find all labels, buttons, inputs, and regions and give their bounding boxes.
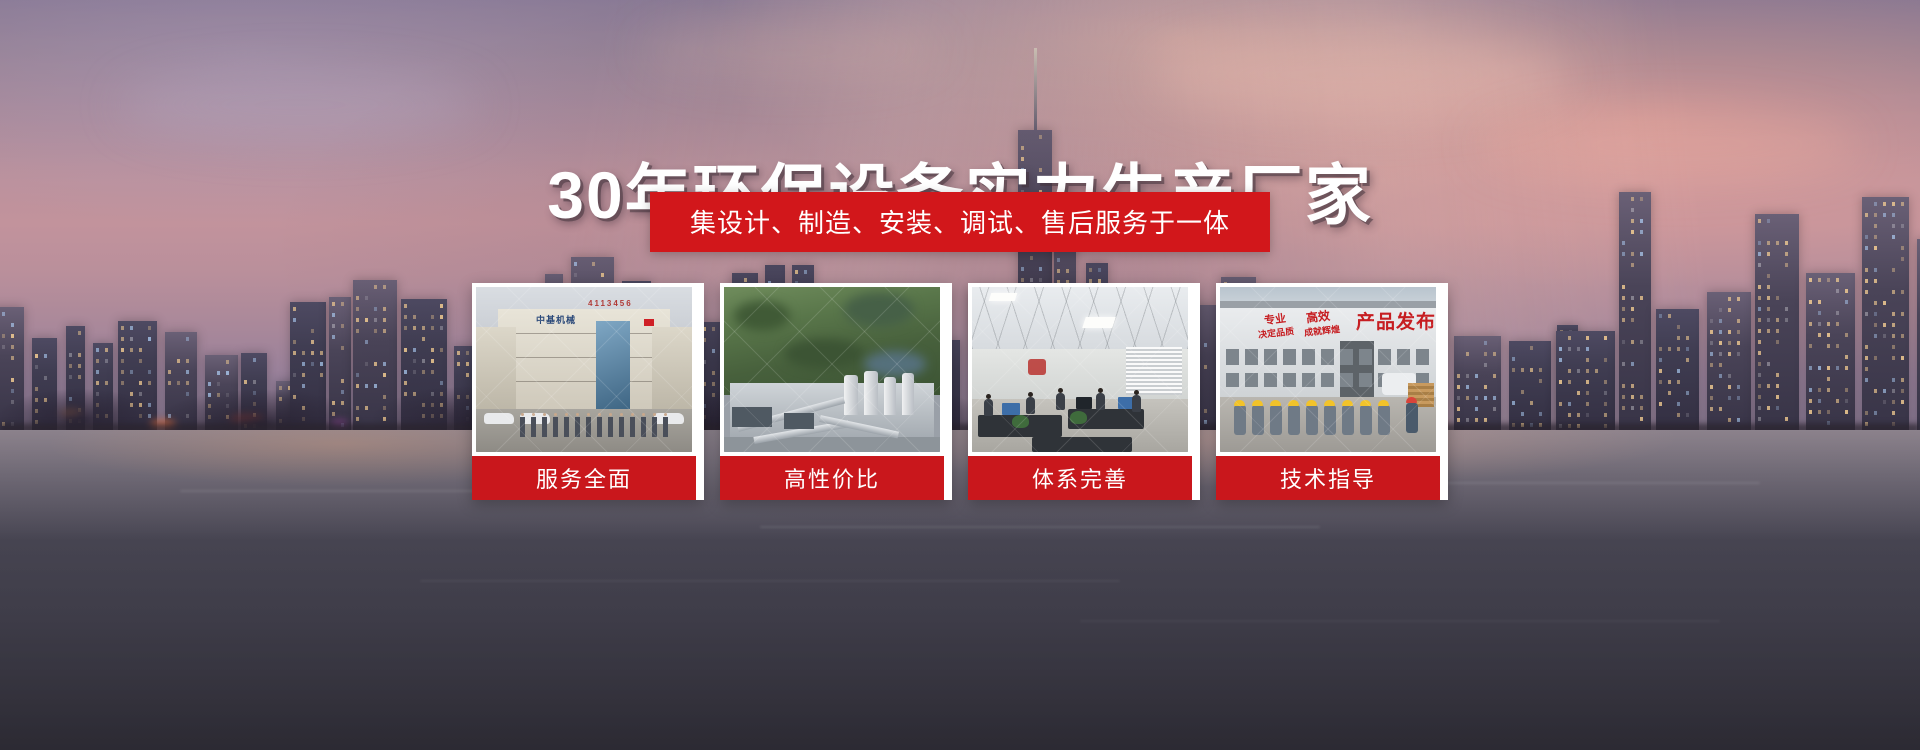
parked-car xyxy=(654,413,684,424)
staff-person xyxy=(597,417,602,437)
thumb-building-left-wing xyxy=(476,327,516,409)
silo xyxy=(902,373,914,415)
feature-card[interactable]: 体系完善 xyxy=(968,283,1200,500)
staff-person xyxy=(564,417,569,437)
ceiling-light xyxy=(989,293,1018,301)
feature-card[interactable]: 产品发布 专业 高效 决定品质 成就辉煌 技术指导 xyxy=(1216,283,1448,500)
staff-person xyxy=(531,417,536,437)
tree-cluster xyxy=(844,293,914,327)
safety-helmet-icon xyxy=(1288,400,1299,406)
factory-window xyxy=(1302,349,1315,365)
person xyxy=(1026,397,1035,414)
monitor xyxy=(1002,403,1020,415)
staff-person xyxy=(553,417,558,437)
banner-content: 30年环保设备实力生产厂家 集设计、制造、安装、调试、售后服务于一体 中基机械 xyxy=(0,0,1920,750)
safety-helmet-icon xyxy=(1306,400,1317,406)
worker-person xyxy=(1306,405,1318,435)
factory-window xyxy=(1264,349,1277,365)
office-desk xyxy=(1032,437,1132,452)
staff-person xyxy=(608,417,613,437)
factory-window xyxy=(1397,349,1410,365)
flag-icon xyxy=(644,319,654,326)
supervisor-person xyxy=(1406,403,1418,433)
factory-window xyxy=(1321,373,1334,387)
safety-helmet-icon xyxy=(1406,397,1417,403)
safety-helmet-icon xyxy=(1234,400,1245,406)
machine-housing xyxy=(732,407,772,427)
wall-emblem xyxy=(1028,359,1046,375)
tree-cluster xyxy=(734,301,790,331)
factory-window xyxy=(1245,349,1258,365)
factory-window xyxy=(1340,373,1353,387)
card-thumbnail-factory-workers: 产品发布 专业 高效 决定品质 成就辉煌 xyxy=(1220,287,1436,452)
card-caption: 服务全面 xyxy=(472,456,696,500)
staff-person xyxy=(586,417,591,437)
staff-person xyxy=(619,417,624,437)
factory-window xyxy=(1340,349,1353,365)
silo xyxy=(844,375,858,415)
card-caption: 技术指导 xyxy=(1216,456,1440,500)
factory-window xyxy=(1283,349,1296,365)
factory-window xyxy=(1378,349,1391,365)
feature-card-row: 中基机械 4113456 服务全面 xyxy=(472,283,1448,500)
worker-person xyxy=(1252,405,1264,435)
staff-person xyxy=(663,417,668,437)
factory-window xyxy=(1302,373,1315,387)
worker-person xyxy=(1360,405,1372,435)
safety-helmet-icon xyxy=(1252,400,1263,406)
factory-window xyxy=(1416,349,1429,365)
ceiling-light xyxy=(1082,317,1116,328)
worker-person xyxy=(1234,405,1246,435)
building-phone-number: 4113456 xyxy=(588,299,633,308)
worker-person xyxy=(1378,405,1390,435)
staff-person xyxy=(630,417,635,437)
factory-window xyxy=(1321,349,1334,365)
banner-subline-bar: 集设计、制造、安装、调试、售后服务于一体 xyxy=(650,192,1270,252)
hero-banner: 30年环保设备实力生产厂家 集设计、制造、安装、调试、售后服务于一体 中基机械 xyxy=(0,0,1920,750)
card-caption: 体系完善 xyxy=(968,456,1192,500)
person xyxy=(1056,393,1065,410)
window-blinds xyxy=(1126,347,1182,395)
staff-person xyxy=(520,417,525,437)
card-thumbnail-aerial-plant xyxy=(724,287,940,452)
tree-cluster xyxy=(784,339,864,369)
silo xyxy=(884,377,896,415)
potted-plant xyxy=(1070,411,1087,424)
card-caption: 高性价比 xyxy=(720,456,944,500)
staff-person xyxy=(652,417,657,437)
card-thumbnail-office-building: 中基机械 4113456 xyxy=(476,287,692,452)
silo xyxy=(864,371,878,415)
monitor xyxy=(1076,397,1092,409)
safety-helmet-icon xyxy=(1360,400,1371,406)
building-signage: 中基机械 xyxy=(536,313,576,326)
factory-window xyxy=(1359,349,1372,365)
feature-card[interactable]: 中基机械 4113456 服务全面 xyxy=(472,283,704,500)
worker-person xyxy=(1342,405,1354,435)
safety-helmet-icon xyxy=(1324,400,1335,406)
safety-helmet-icon xyxy=(1378,400,1389,406)
person xyxy=(1096,393,1105,410)
factory-window xyxy=(1245,373,1258,387)
worker-person xyxy=(1270,405,1282,435)
staff-person xyxy=(641,417,646,437)
parked-car xyxy=(484,413,514,424)
machine-housing xyxy=(784,413,814,429)
factory-window xyxy=(1283,373,1296,387)
feature-card[interactable]: 高性价比 xyxy=(720,283,952,500)
safety-helmet-icon xyxy=(1342,400,1353,406)
staff-person xyxy=(575,417,580,437)
factory-window xyxy=(1226,373,1239,387)
factory-window xyxy=(1359,373,1372,387)
factory-window xyxy=(1226,349,1239,365)
person xyxy=(1132,395,1141,412)
thumb-building-right-wing xyxy=(652,327,692,409)
person xyxy=(984,399,993,416)
worker-person xyxy=(1288,405,1300,435)
thumb-glass-facade xyxy=(596,321,630,409)
safety-helmet-icon xyxy=(1270,400,1281,406)
staff-person xyxy=(542,417,547,437)
potted-plant xyxy=(1012,415,1029,428)
worker-person xyxy=(1324,405,1336,435)
factory-signage-main: 产品发布 xyxy=(1356,307,1436,334)
card-thumbnail-office-interior xyxy=(972,287,1188,452)
factory-window xyxy=(1264,373,1277,387)
